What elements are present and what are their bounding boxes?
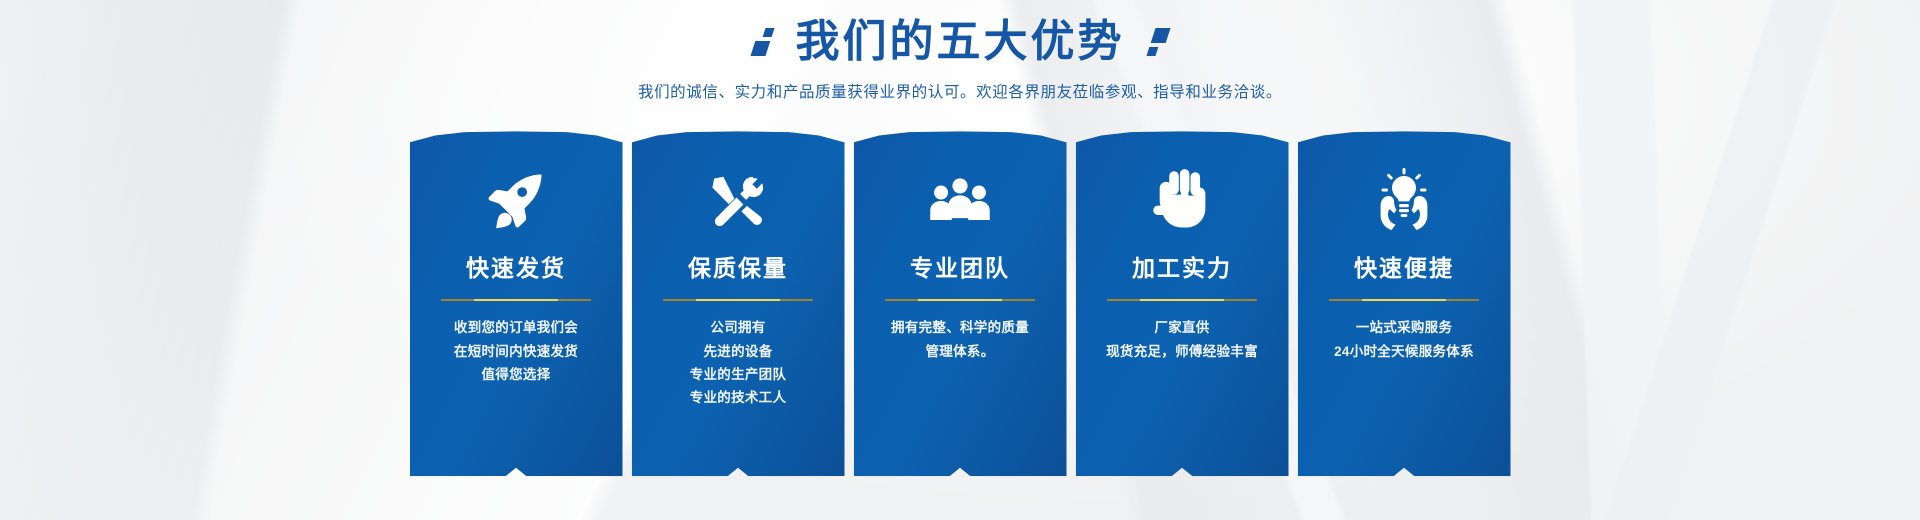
- lightbulb-in-hands-icon: [1298, 165, 1511, 239]
- desc-line: 现货充足，师傅经验丰富: [1076, 340, 1289, 363]
- team-people-icon: [854, 165, 1067, 239]
- advantage-card-list: 快速发货 收到您的订单我们会 在短时间内快速发货 值得您选择: [0, 131, 1920, 476]
- desc-line: 在短时间内快速发货: [410, 340, 623, 363]
- fist-icon: [1076, 165, 1289, 239]
- advantage-card[interactable]: 保质保量 公司拥有 先进的设备 专业的生产团队 专业的技术工人: [632, 131, 845, 476]
- card-title: 保质保量: [632, 249, 845, 283]
- desc-line: 24小时全天候服务体系: [1298, 340, 1511, 363]
- advantages-section: 我们的五大优势 我们的诚信、实力和产品质量获得业界的认可。欢迎各界朋友莅临参观、…: [0, 0, 1920, 520]
- advantage-card[interactable]: 加工实力 厂家直供 现货充足，师傅经验丰富: [1076, 131, 1289, 476]
- desc-line: 值得您选择: [410, 363, 623, 386]
- desc-line: 收到您的订单我们会: [410, 316, 623, 339]
- diamond-decor-left-icon: [750, 28, 774, 56]
- card-title: 快速发货: [410, 249, 623, 283]
- gold-divider: [663, 299, 813, 301]
- card-description: 一站式采购服务 24小时全天候服务体系: [1298, 316, 1511, 362]
- diamond-decor-right-icon: [1146, 28, 1170, 56]
- section-heading: 我们的五大优势 我们的诚信、实力和产品质量获得业界的认可。欢迎各界朋友莅临参观、…: [0, 0, 1920, 102]
- card-description: 拥有完整、科学的质量 管理体系。: [854, 316, 1067, 362]
- section-subtitle: 我们的诚信、实力和产品质量获得业界的认可。欢迎各界朋友莅临参观、指导和业务洽谈。: [0, 80, 1920, 102]
- desc-line: 管理体系。: [854, 340, 1067, 363]
- page-title: 我们的五大优势: [796, 18, 1125, 66]
- card-title: 快速便捷: [1298, 249, 1511, 283]
- desc-line: 专业的技术工人: [632, 386, 845, 409]
- card-title: 专业团队: [854, 249, 1067, 283]
- advantage-card[interactable]: 快速发货 收到您的订单我们会 在短时间内快速发货 值得您选择: [410, 131, 623, 476]
- desc-line: 公司拥有: [632, 316, 845, 339]
- title-row: 我们的五大优势: [0, 18, 1920, 66]
- card-description: 公司拥有 先进的设备 专业的生产团队 专业的技术工人: [632, 316, 845, 409]
- gold-divider: [885, 299, 1035, 301]
- desc-line: 一站式采购服务: [1298, 316, 1511, 339]
- desc-line: 拥有完整、科学的质量: [854, 316, 1067, 339]
- desc-line: 厂家直供: [1076, 316, 1289, 339]
- desc-line: 先进的设备: [632, 340, 845, 363]
- advantage-card[interactable]: 快速便捷 一站式采购服务 24小时全天候服务体系: [1298, 131, 1511, 476]
- gold-divider: [441, 299, 591, 301]
- card-title: 加工实力: [1076, 249, 1289, 283]
- gold-divider: [1329, 299, 1479, 301]
- gold-divider: [1107, 299, 1257, 301]
- card-description: 收到您的订单我们会 在短时间内快速发货 值得您选择: [410, 316, 623, 386]
- wrench-screwdriver-icon: [632, 165, 845, 239]
- desc-line: 专业的生产团队: [632, 363, 845, 386]
- rocket-icon: [410, 165, 623, 239]
- advantage-card[interactable]: 专业团队 拥有完整、科学的质量 管理体系。: [854, 131, 1067, 476]
- card-description: 厂家直供 现货充足，师傅经验丰富: [1076, 316, 1289, 362]
